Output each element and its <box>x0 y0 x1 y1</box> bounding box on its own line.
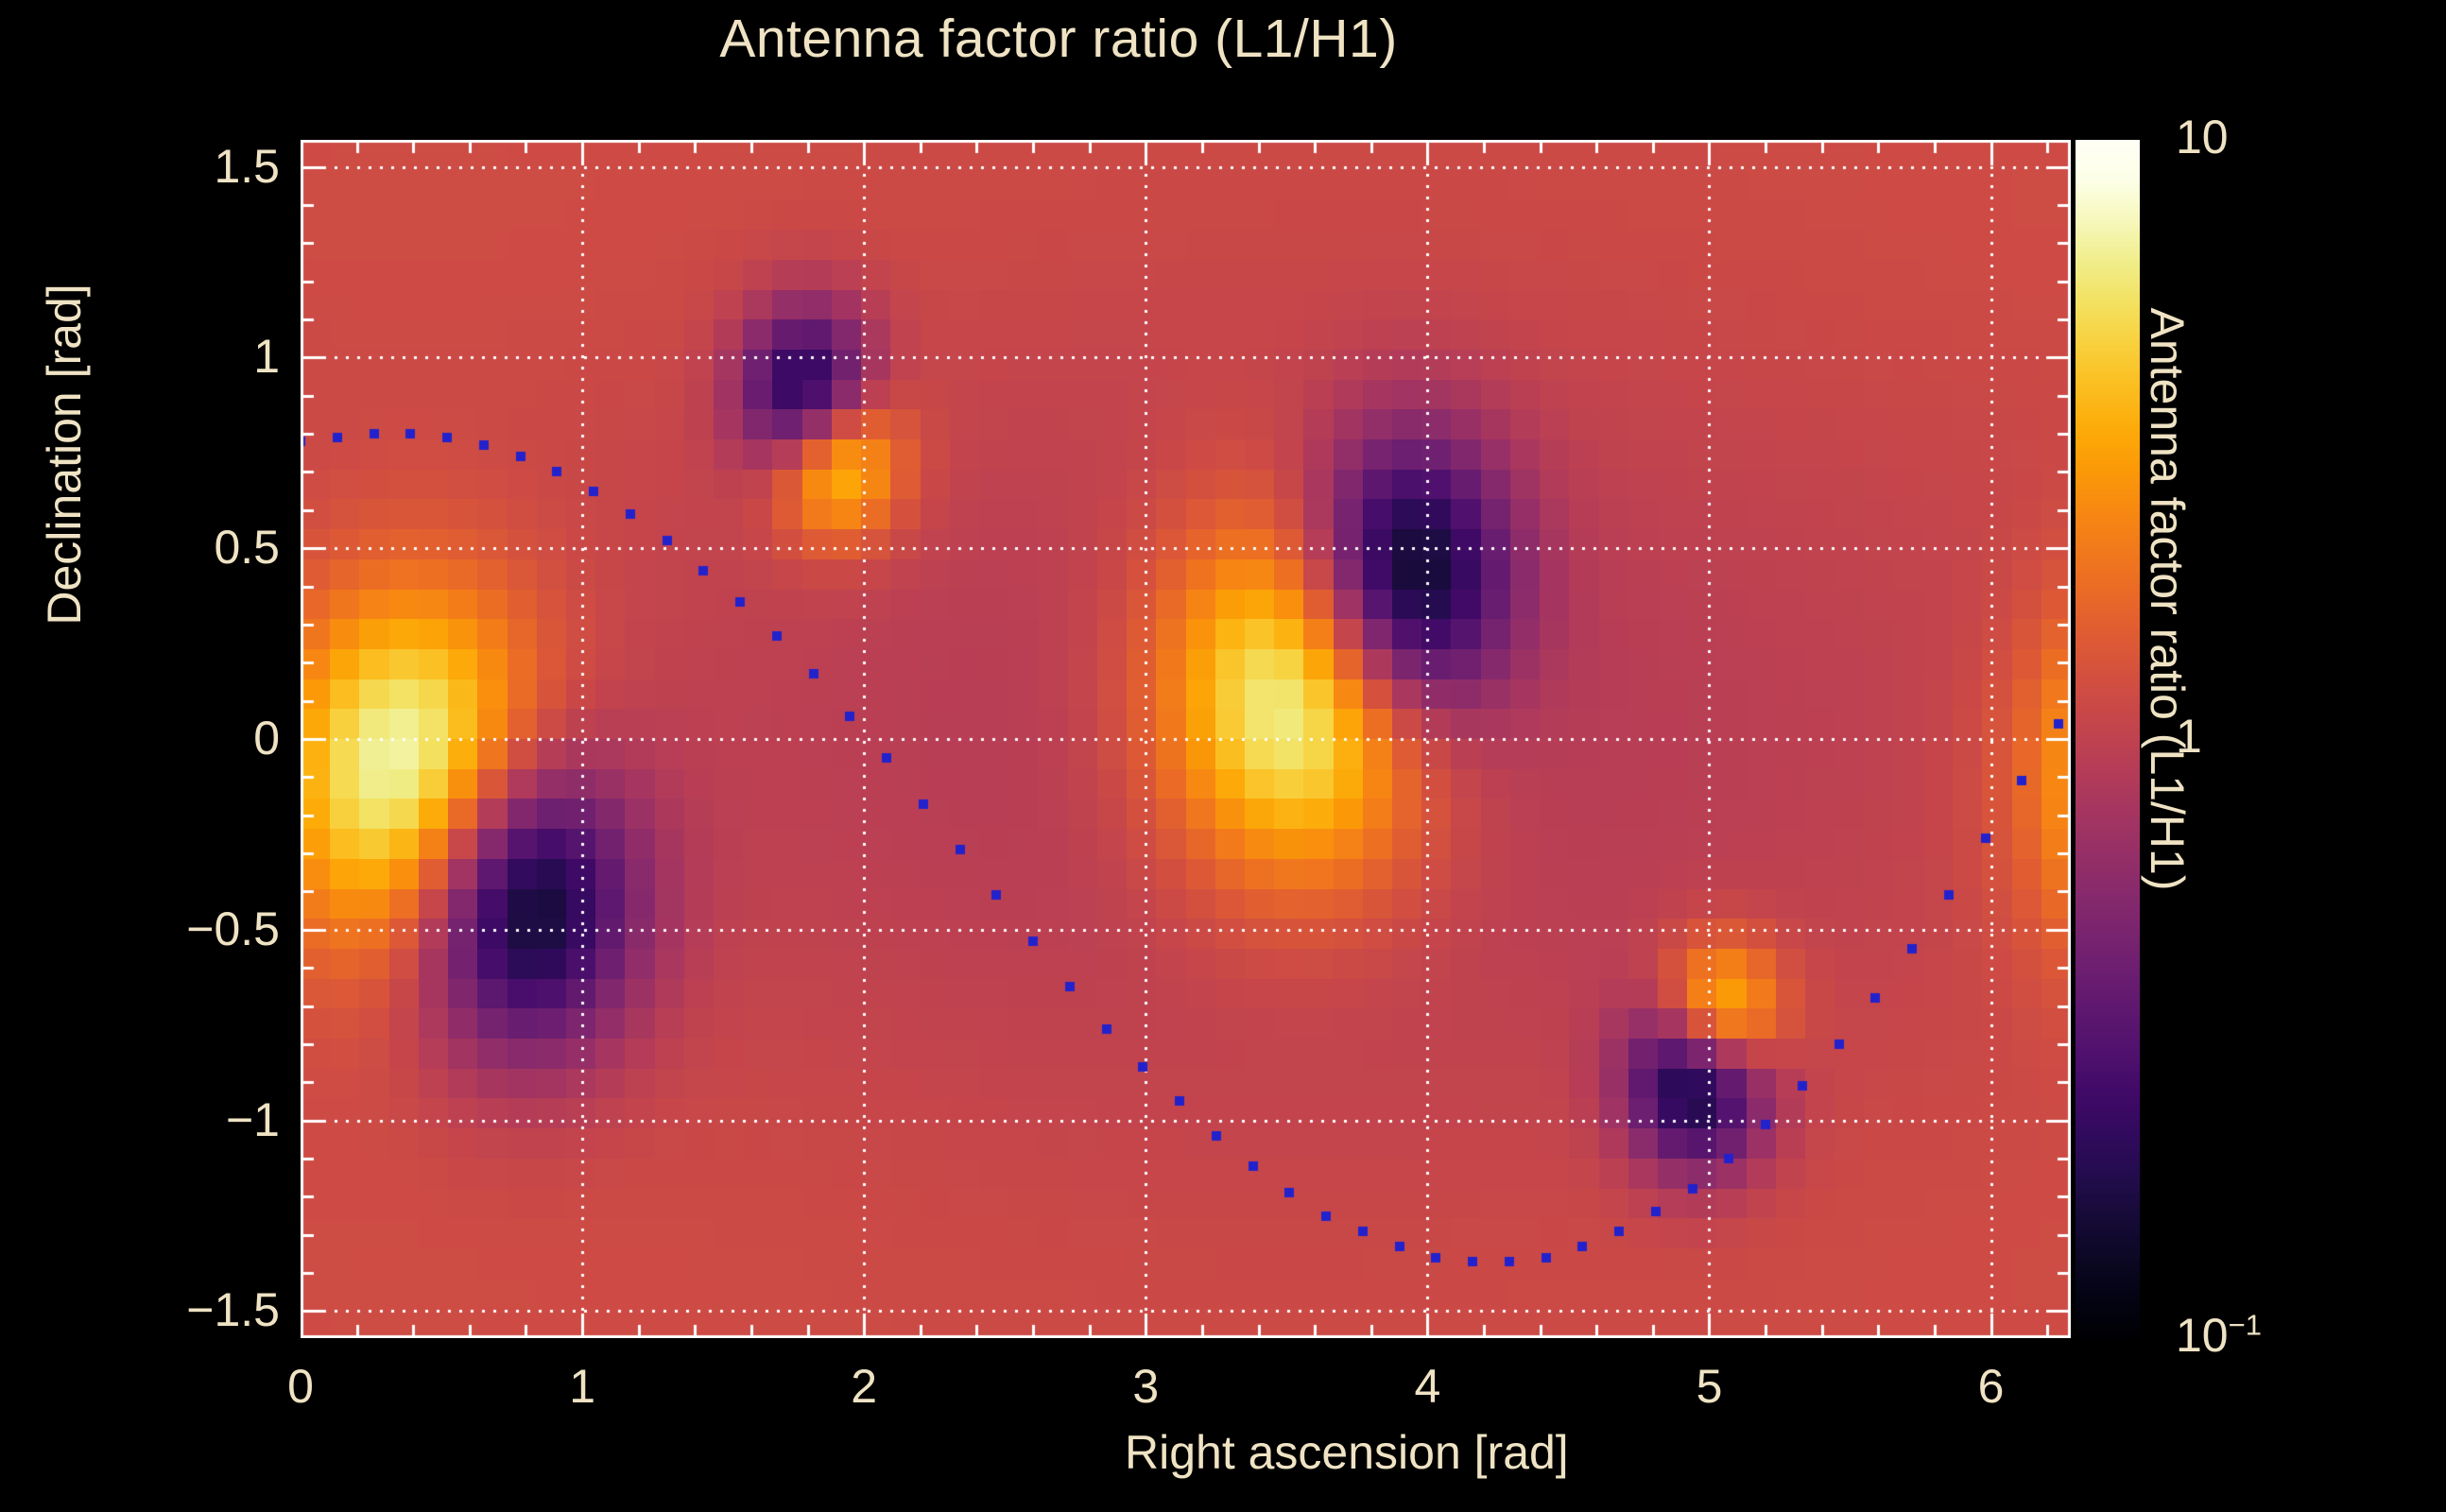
y-axis-tick-label: −0.5 <box>62 902 280 956</box>
colorbar-major-tick <box>2140 1337 2164 1339</box>
page-title: Antenna factor ratio (L1/H1) <box>0 8 2117 70</box>
y-axis-tick-label: 1.5 <box>62 139 280 194</box>
plot-canvas: Antenna factor ratio (L1/H1) 1.510.50−0.… <box>0 0 2446 1512</box>
y-axis-title: Declination [rad] <box>37 124 92 785</box>
x-axis-title: Right ascension [rad] <box>1125 1425 1569 1480</box>
x-axis-tick-label: 1 <box>525 1359 639 1414</box>
y-axis-tick-label: −1.5 <box>62 1282 280 1337</box>
x-axis-tick-label: 5 <box>1652 1359 1766 1414</box>
x-axis-tick-label: 4 <box>1370 1359 1484 1414</box>
x-axis-tick-label: 2 <box>807 1359 921 1414</box>
y-axis-tick-label: −1 <box>62 1092 280 1147</box>
y-axis-tick-label: 0.5 <box>62 520 280 575</box>
x-axis-tick-label: 0 <box>244 1359 357 1414</box>
heatmap-frame <box>301 140 2071 1338</box>
colorbar-tick-label: 10−1 <box>2176 1308 2262 1363</box>
colorbar: 10110−1 <box>2076 140 2140 1338</box>
x-axis-tick-label: 3 <box>1089 1359 1202 1414</box>
y-axis-tick-label: 1 <box>62 329 280 384</box>
grid-and-galactic-plane-overlay <box>301 140 2071 1338</box>
colorbar-label-exponent: −1 <box>2229 1308 2262 1341</box>
colorbar-title: Antenna factor ratio (L1/H1) <box>2136 0 2195 1198</box>
colorbar-gradient <box>2076 140 2140 1338</box>
y-axis-tick-label: 0 <box>62 711 280 765</box>
x-axis-tick-label: 6 <box>1935 1359 2048 1414</box>
colorbar-label-mantissa: 10 <box>2176 1309 2229 1362</box>
